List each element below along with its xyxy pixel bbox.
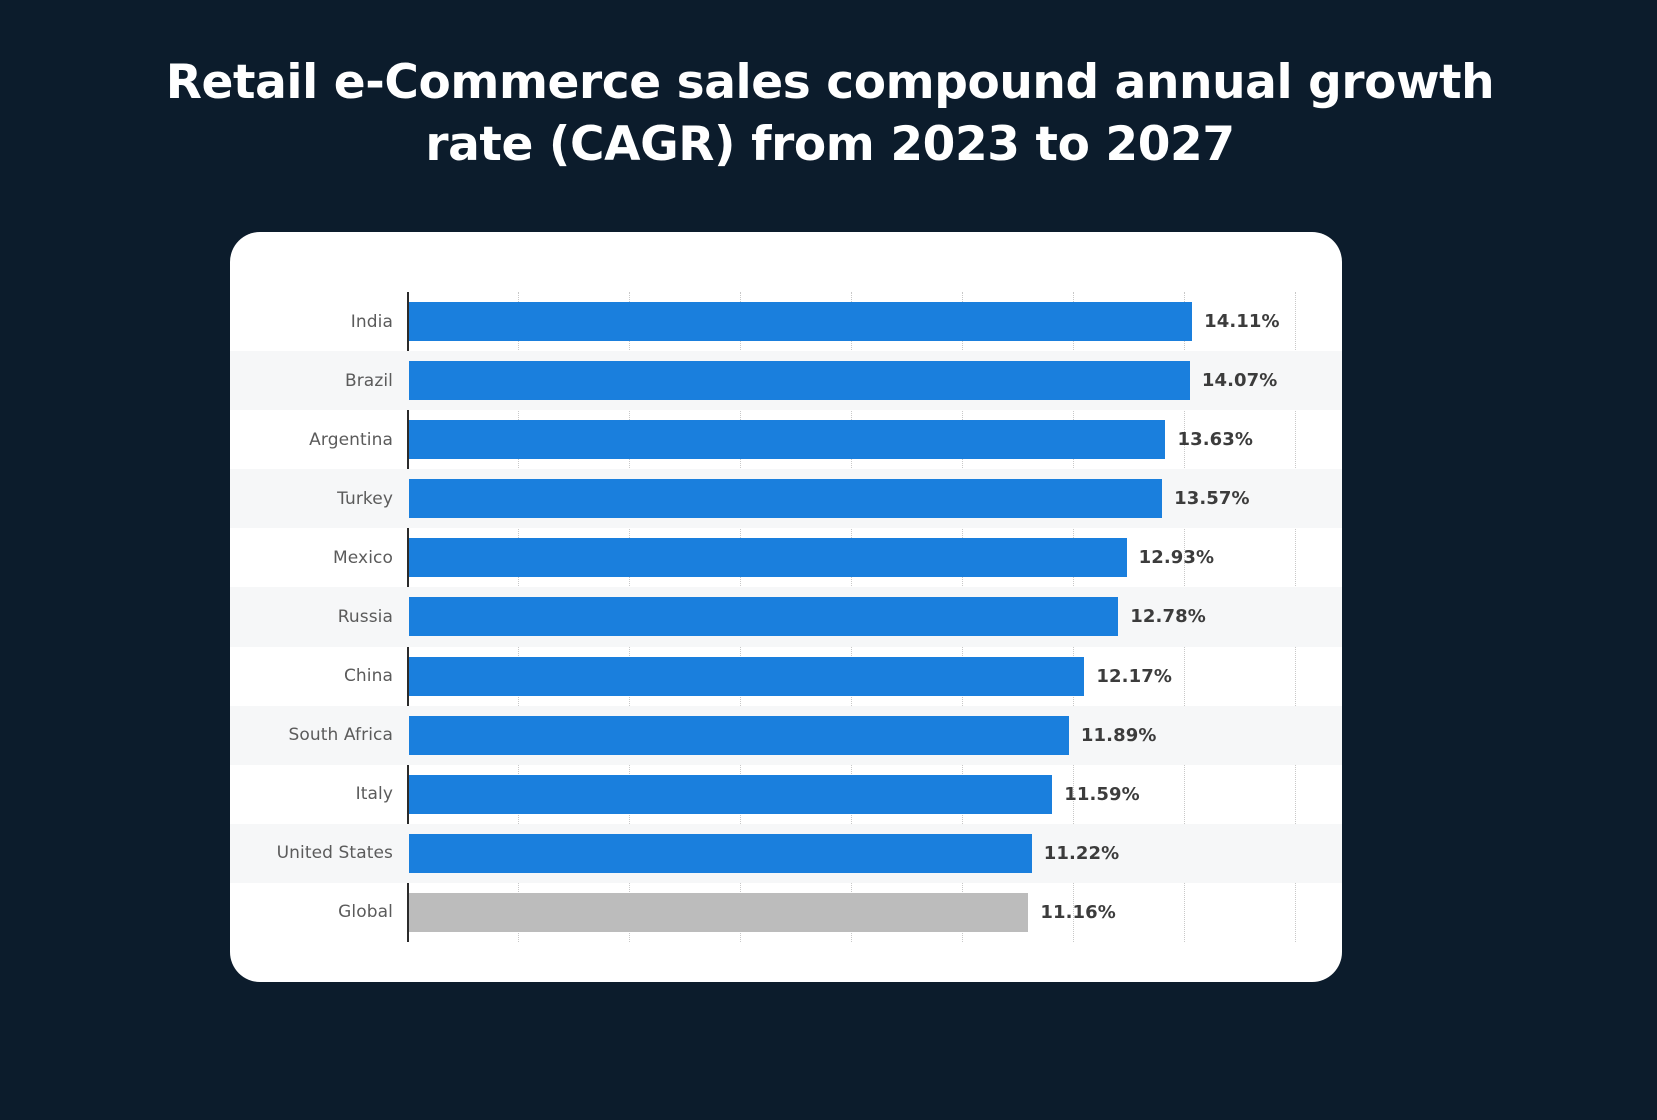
bar-category-label: India	[230, 312, 393, 332]
bar[interactable]	[409, 302, 1192, 341]
bar-value-label: 14.11%	[1204, 311, 1280, 332]
bar-rows: India14.11%Brazil14.07%Argentina13.63%Tu…	[230, 232, 1342, 982]
bar-value-label: 11.59%	[1064, 784, 1140, 805]
bar-row[interactable]: Italy11.59%	[230, 765, 1342, 824]
bar[interactable]	[409, 597, 1118, 636]
bar-row[interactable]: Argentina13.63%	[230, 410, 1342, 469]
bar-row[interactable]: United States11.22%	[230, 824, 1342, 883]
bar-category-label: Brazil	[230, 371, 393, 391]
chart-card: India14.11%Brazil14.07%Argentina13.63%Tu…	[230, 232, 1342, 982]
bar[interactable]	[409, 420, 1165, 459]
bar[interactable]	[409, 775, 1052, 814]
infographic-root: Retail e-Commerce sales compound annual …	[0, 0, 1657, 1120]
bar[interactable]	[409, 479, 1162, 518]
page-title-line-2: rate (CAGR) from 2023 to 2027	[90, 114, 1570, 176]
bar-row[interactable]: China12.17%	[230, 647, 1342, 706]
page-title: Retail e-Commerce sales compound annual …	[90, 52, 1570, 176]
bar-value-label: 13.57%	[1174, 488, 1250, 509]
bar-value-label: 13.63%	[1177, 429, 1253, 450]
bar-row[interactable]: Turkey13.57%	[230, 469, 1342, 528]
bar-row[interactable]: Brazil14.07%	[230, 351, 1342, 410]
bar-row[interactable]: India14.11%	[230, 292, 1342, 351]
bar-row[interactable]: Mexico12.93%	[230, 528, 1342, 587]
bar[interactable]	[409, 657, 1084, 696]
bar-value-label: 14.07%	[1202, 370, 1278, 391]
bar-row[interactable]: Global11.16%	[230, 883, 1342, 942]
bar-value-label: 11.22%	[1044, 843, 1120, 864]
bar-category-label: Italy	[230, 784, 393, 804]
bar-value-label: 11.16%	[1040, 902, 1116, 923]
bar-row[interactable]: South Africa11.89%	[230, 706, 1342, 765]
bar-value-label: 11.89%	[1081, 725, 1157, 746]
bar-category-label: South Africa	[230, 725, 393, 745]
bar[interactable]	[409, 834, 1032, 873]
bar-value-label: 12.17%	[1096, 666, 1172, 687]
bar-category-label: Turkey	[230, 489, 393, 509]
bar-category-label: Russia	[230, 607, 393, 627]
bar-category-label: China	[230, 666, 393, 686]
bar-value-label: 12.78%	[1130, 606, 1206, 627]
bar-category-label: Global	[230, 902, 393, 922]
bar[interactable]	[409, 361, 1190, 400]
bar-value-label: 12.93%	[1139, 547, 1215, 568]
bar-category-label: Argentina	[230, 430, 393, 450]
bar-row[interactable]: Russia12.78%	[230, 587, 1342, 646]
bar[interactable]	[409, 716, 1069, 755]
page-title-line-1: Retail e-Commerce sales compound annual …	[90, 52, 1570, 114]
bar[interactable]	[409, 538, 1127, 577]
bar[interactable]	[409, 893, 1028, 932]
bar-category-label: United States	[230, 843, 393, 863]
bar-category-label: Mexico	[230, 548, 393, 568]
bar-chart: India14.11%Brazil14.07%Argentina13.63%Tu…	[230, 232, 1342, 982]
